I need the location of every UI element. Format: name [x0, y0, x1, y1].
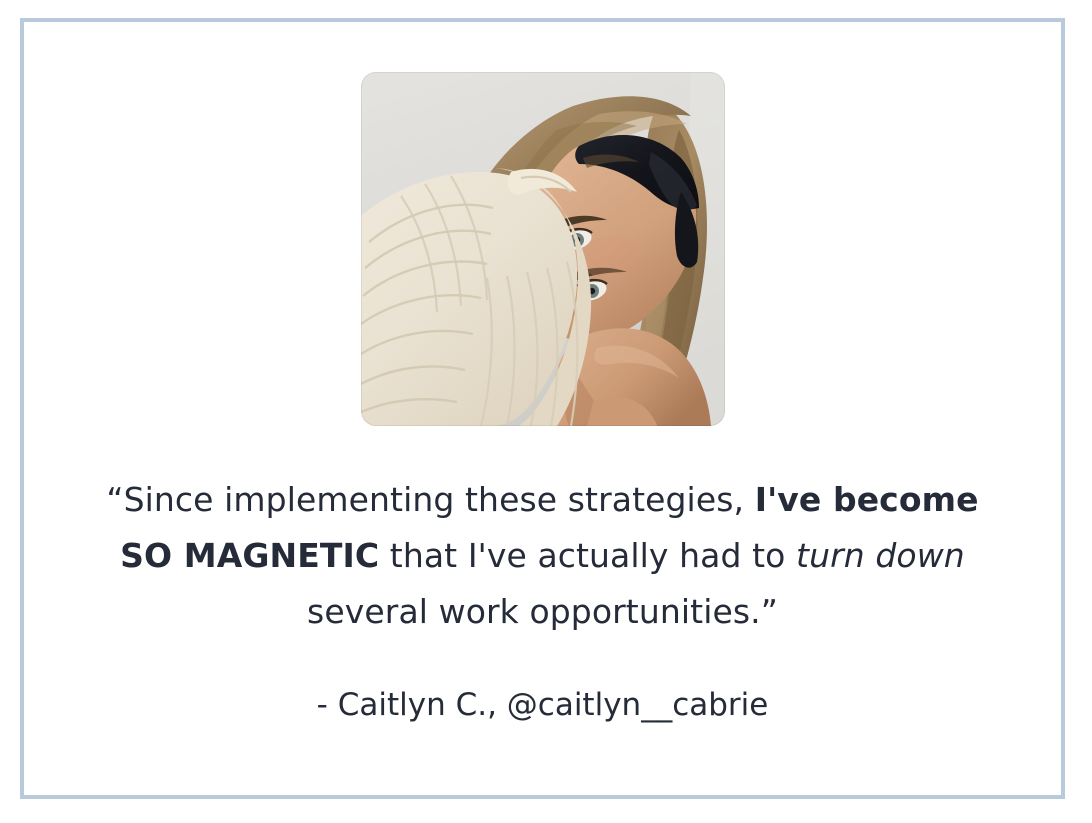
testimonial-page: “Since implementing these strategies, I'…	[0, 0, 1092, 823]
testimonial-attribution: - Caitlyn C., @caitlyn__cabrie	[317, 684, 769, 726]
quote-segment-normal-2: that I've actually had to	[379, 536, 796, 575]
testimonial-card: “Since implementing these strategies, I'…	[20, 18, 1065, 799]
author-photo	[361, 72, 725, 426]
quote-segment-normal-3: several work opportunities.”	[307, 592, 778, 631]
testimonial-quote: “Since implementing these strategies, I'…	[83, 472, 1003, 640]
quote-segment-italic: turn down	[796, 536, 965, 575]
quote-segment-normal-1: “Since implementing these strategies,	[106, 480, 754, 519]
